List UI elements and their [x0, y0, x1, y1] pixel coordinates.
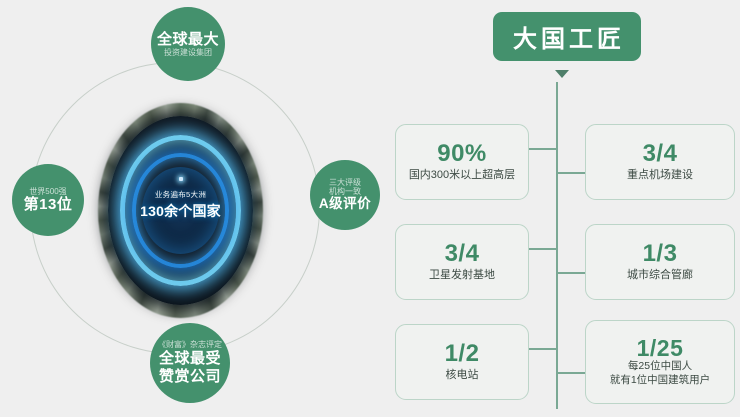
stat-card-label: 核电站	[446, 369, 479, 383]
stat-card-value: 1/3	[643, 241, 678, 266]
bubble-credit-rating[interactable]: 三大评级 机构一致 A级评价	[310, 160, 380, 230]
bubble-left-title: 第13位	[24, 196, 73, 213]
stat-card-value: 3/4	[643, 141, 678, 166]
globe-illustration: 业务遍布5大洲 130余个国家	[98, 103, 263, 318]
tree-trunk-line	[556, 82, 558, 409]
bubble-most-admired-company[interactable]: 《财富》杂志评定 全球最受 赞赏公司	[150, 323, 230, 403]
bubble-bottom-title-line2: 赞赏公司	[159, 368, 221, 386]
bubble-right-subtitle-line2: 机构一致	[329, 187, 361, 196]
stat-card-label: 每25位中国人	[628, 360, 692, 374]
infographic-canvas: 业务遍布5大洲 130余个国家 全球最大 投资建设集团 世界500强 第13位 …	[0, 0, 740, 417]
globe-marker-dot	[179, 177, 183, 181]
chevron-down-icon	[555, 70, 569, 78]
stat-card[interactable]: 3/4 重点机场建设	[585, 124, 735, 200]
bubble-right-title: A级评价	[319, 196, 371, 212]
stat-card-label-line2: 就有1位中国建筑用户	[610, 374, 710, 388]
section-banner: 大国工匠	[493, 12, 641, 61]
stat-card[interactable]: 3/4 卫星发射基地	[395, 224, 529, 300]
bubble-right-subtitle-line1: 三大评级	[329, 178, 361, 187]
stat-card-value: 1/25	[637, 336, 684, 360]
bubble-top-subtitle: 投资建设集团	[164, 48, 212, 57]
bubble-largest-group[interactable]: 全球最大 投资建设集团	[151, 7, 225, 81]
stat-card[interactable]: 1/3 城市综合管廊	[585, 224, 735, 300]
stat-card-value: 3/4	[445, 241, 480, 266]
bubble-fortune500-rank[interactable]: 世界500强 第13位	[12, 164, 84, 236]
globe-orbit-panel: 业务遍布5大洲 130余个国家 全球最大 投资建设集团 世界500强 第13位 …	[0, 0, 395, 417]
stat-card-label: 重点机场建设	[627, 169, 693, 183]
banner-title: 大国工匠	[509, 19, 625, 54]
bubble-bottom-title-line1: 全球最受	[159, 350, 221, 368]
stat-card-value: 90%	[437, 141, 487, 166]
bubble-bottom-subtitle: 《财富》杂志评定	[158, 340, 222, 349]
stat-card[interactable]: 90% 国内300米以上超高层	[395, 124, 529, 200]
stat-card-label: 国内300米以上超高层	[409, 169, 515, 183]
stat-card-label: 卫星发射基地	[429, 269, 495, 283]
stat-card[interactable]: 1/25 每25位中国人 就有1位中国建筑用户	[585, 320, 735, 404]
bubble-left-subtitle: 世界500强	[29, 187, 66, 196]
stats-tree-panel: 大国工匠 90% 国内300米以上超高层 3/4 重点机场建设 3/4 卫星发射…	[395, 0, 740, 417]
stat-card-value: 1/2	[445, 341, 480, 366]
stat-card-label: 城市综合管廊	[627, 269, 693, 283]
bubble-top-title: 全球最大	[157, 31, 219, 48]
stat-card[interactable]: 1/2 核电站	[395, 324, 529, 400]
